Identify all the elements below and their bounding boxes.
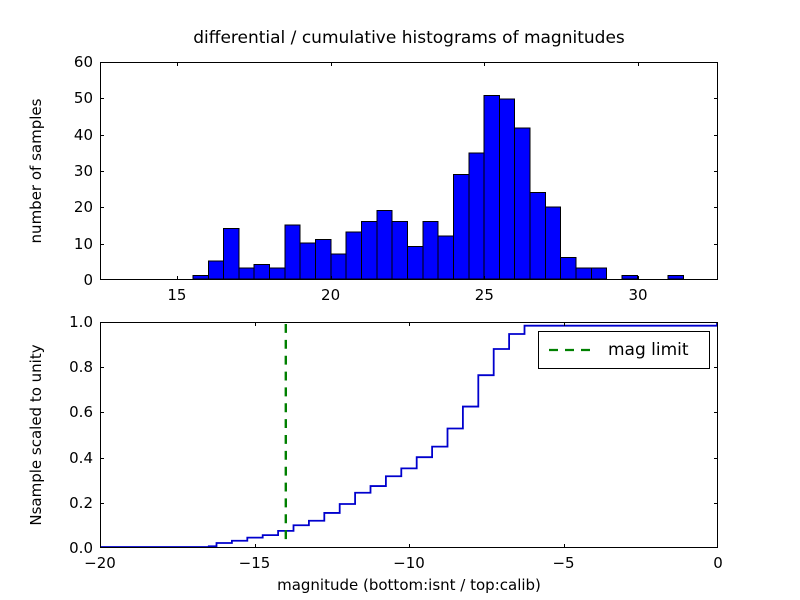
y-tick-mark-top [100, 244, 104, 245]
histogram-bar [438, 236, 453, 279]
y-tick-label-bottom: 0.2 [69, 494, 93, 512]
y-tick-mark-bottom [100, 367, 104, 368]
x-tick-mark-bottom [409, 322, 410, 326]
differential-histogram-plot [101, 63, 717, 279]
histogram-bar [208, 261, 223, 279]
histogram-bar [254, 265, 269, 279]
x-tick-label-top: 20 [321, 286, 340, 304]
y-tick-label-top: 60 [74, 53, 93, 71]
legend: mag limit [538, 331, 710, 369]
x-tick-mark-top [331, 276, 332, 280]
y-tick-mark-bottom [714, 458, 718, 459]
y-tick-mark-bottom [714, 367, 718, 368]
histogram-bar [515, 128, 530, 279]
y-tick-mark-top-right [714, 207, 718, 208]
y-tick-mark-top-right [714, 171, 718, 172]
x-tick-mark-top [177, 62, 178, 66]
x-tick-mark-bottom [564, 322, 565, 326]
histogram-bar [316, 239, 331, 279]
figure-canvas: differential / cumulative histograms of … [0, 0, 800, 600]
y-tick-label-top: 0 [83, 271, 93, 289]
y-tick-mark-bottom [100, 412, 104, 413]
histogram-bar [361, 221, 376, 279]
histogram-bar [392, 221, 407, 279]
y-tick-label-top: 30 [74, 162, 93, 180]
x-tick-mark-top [484, 276, 485, 280]
x-tick-label-top: 25 [475, 286, 494, 304]
y-tick-label-bottom: 0.4 [69, 449, 93, 467]
y-tick-mark-bottom [714, 412, 718, 413]
x-tick-mark-bottom [255, 322, 256, 326]
y-tick-label-top: 20 [74, 198, 93, 216]
histogram-bar [407, 247, 422, 279]
x-axis-label: magnitude (bottom:isnt / top:calib) [277, 576, 541, 594]
x-tick-label-bottom: 0 [713, 554, 723, 572]
y-tick-mark-top [100, 98, 104, 99]
histogram-bar [561, 257, 576, 279]
histogram-bar [469, 153, 484, 279]
x-tick-mark-top [331, 62, 332, 66]
y-axis-label-bottom: Nsample scaled to unity [27, 344, 45, 525]
y-tick-mark-top [100, 135, 104, 136]
histogram-bar [591, 268, 606, 279]
x-tick-mark-bottom [255, 544, 256, 548]
y-tick-mark-bottom [100, 458, 104, 459]
x-tick-mark-top [177, 276, 178, 280]
x-tick-label-bottom: −10 [393, 554, 425, 572]
y-axis-label-top: number of samples [27, 99, 45, 244]
histogram-bar [423, 221, 438, 279]
x-tick-label-bottom: −5 [552, 554, 574, 572]
histogram-bar [270, 268, 285, 279]
y-tick-mark-top [100, 207, 104, 208]
histogram-bar [224, 229, 239, 279]
histogram-bar [576, 268, 591, 279]
histogram-bar [346, 232, 361, 279]
y-tick-mark-top-right [714, 244, 718, 245]
histogram-bar [499, 99, 514, 279]
y-tick-label-bottom: 0.8 [69, 358, 93, 376]
histogram-bar [622, 275, 637, 279]
x-tick-label-bottom: −15 [239, 554, 271, 572]
y-tick-label-top: 40 [74, 126, 93, 144]
histogram-bar [193, 275, 208, 279]
histogram-bar [285, 225, 300, 279]
y-tick-label-top: 50 [74, 89, 93, 107]
y-tick-mark-bottom [714, 503, 718, 504]
histogram-bar [377, 211, 392, 279]
histogram-bar [484, 95, 499, 279]
page-title: differential / cumulative histograms of … [100, 28, 718, 48]
dashed-line-icon [548, 344, 594, 356]
legend-label-mag-limit: mag limit [608, 340, 689, 360]
x-tick-mark-top [638, 276, 639, 280]
y-tick-label-bottom: 0.6 [69, 403, 93, 421]
histogram-bar [300, 243, 315, 279]
y-tick-mark-bottom [100, 503, 104, 504]
histogram-bar [530, 193, 545, 279]
x-tick-mark-bottom [564, 544, 565, 548]
y-tick-label-bottom: 1.0 [69, 313, 93, 331]
x-tick-label-top: 15 [167, 286, 186, 304]
x-tick-mark-bottom [409, 544, 410, 548]
x-tick-mark-top [638, 62, 639, 66]
y-tick-label-top: 10 [74, 235, 93, 253]
differential-histogram-axes [100, 62, 718, 280]
legend-entry-mag-limit: mag limit [539, 332, 709, 368]
histogram-bar [239, 268, 254, 279]
histogram-bar [331, 254, 346, 279]
y-tick-mark-top-right [714, 98, 718, 99]
histogram-bar [545, 207, 560, 279]
x-tick-label-bottom: −20 [84, 554, 116, 572]
x-tick-label-top: 30 [629, 286, 648, 304]
y-tick-mark-top-right [714, 135, 718, 136]
x-tick-mark-top [484, 62, 485, 66]
histogram-bar [668, 275, 683, 279]
y-tick-mark-top [100, 171, 104, 172]
histogram-bar [453, 175, 468, 279]
